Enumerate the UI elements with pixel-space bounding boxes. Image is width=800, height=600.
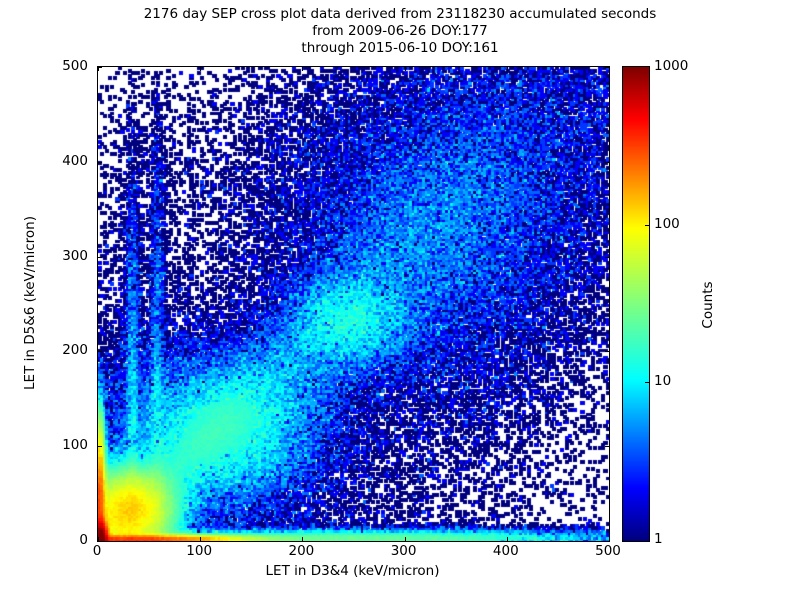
- y-tick-label: 500: [62, 58, 88, 74]
- x-tick-label: 0: [93, 543, 102, 559]
- colorbar-tick-mark: [645, 382, 649, 383]
- colorbar: [622, 66, 650, 542]
- x-tick-mark: [507, 537, 508, 541]
- y-tick-mark: [605, 351, 609, 352]
- y-tick-label: 400: [62, 153, 88, 169]
- colorbar-tick-label: 10: [654, 373, 671, 389]
- y-tick-mark: [98, 541, 102, 542]
- x-tick-label: 500: [595, 543, 621, 559]
- y-tick-label: 300: [62, 248, 88, 264]
- colorbar-tick-label: 100: [654, 216, 680, 232]
- x-tick-mark: [302, 67, 303, 71]
- x-tick-label: 300: [391, 543, 417, 559]
- colorbar-tick-label: 1: [654, 531, 663, 547]
- x-tick-mark: [405, 67, 406, 71]
- figure-title-line-1: 2176 day SEP cross plot data derived fro…: [0, 6, 800, 23]
- x-tick-mark: [609, 67, 610, 71]
- x-tick-mark: [405, 537, 406, 541]
- x-tick-mark: [609, 537, 610, 541]
- y-tick-mark: [98, 257, 102, 258]
- y-tick-mark: [98, 446, 102, 447]
- y-tick-label: 200: [62, 342, 88, 358]
- figure-canvas: 2176 day SEP cross plot data derived fro…: [0, 0, 800, 600]
- x-axis-label: LET in D3&4 (keV/micron): [97, 563, 608, 579]
- colorbar-tick-label: 1000: [654, 58, 688, 74]
- y-tick-mark: [605, 162, 609, 163]
- colorbar-gradient: [623, 67, 649, 541]
- plot-axes: [97, 66, 610, 542]
- x-tick-label: 100: [186, 543, 212, 559]
- density-heatmap: [98, 67, 609, 541]
- y-tick-mark: [98, 162, 102, 163]
- x-tick-label: 200: [289, 543, 315, 559]
- y-tick-mark: [98, 67, 102, 68]
- y-tick-label: 0: [79, 532, 88, 548]
- x-tick-mark: [200, 67, 201, 71]
- x-tick-mark: [302, 537, 303, 541]
- y-tick-mark: [605, 67, 609, 68]
- figure-title-line-3: through 2015-06-10 DOY:161: [0, 40, 800, 57]
- y-axis-label: LET in D5&6 (keV/micron): [22, 66, 42, 540]
- y-tick-mark: [98, 351, 102, 352]
- figure-title: 2176 day SEP cross plot data derived fro…: [0, 6, 800, 57]
- figure-title-line-2: from 2009-06-26 DOY:177: [0, 23, 800, 40]
- x-tick-label: 400: [493, 543, 519, 559]
- colorbar-label: Counts: [700, 155, 720, 455]
- y-tick-mark: [605, 257, 609, 258]
- x-tick-mark: [200, 537, 201, 541]
- y-tick-mark: [605, 446, 609, 447]
- x-tick-mark: [507, 67, 508, 71]
- y-tick-label: 100: [62, 437, 88, 453]
- y-tick-mark: [605, 541, 609, 542]
- colorbar-tick-mark: [645, 225, 649, 226]
